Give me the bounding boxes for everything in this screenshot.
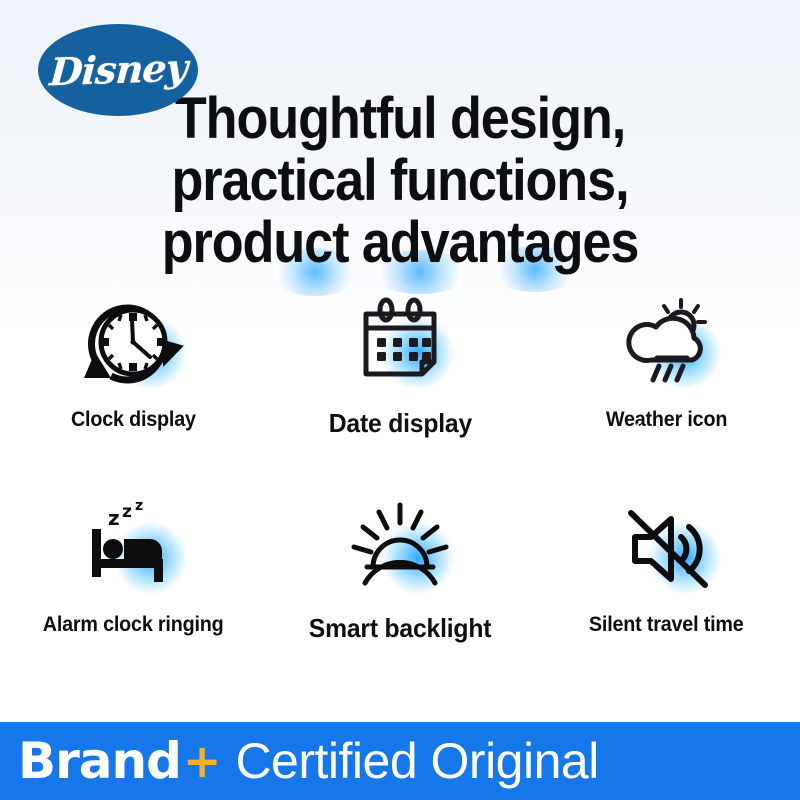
cloud-sun-rain-icon xyxy=(615,294,719,394)
banner-certified-label: Certified Original xyxy=(235,736,598,786)
headline-line-2: practical functions, xyxy=(40,150,760,212)
feature-row-1: Clock display xyxy=(0,296,800,439)
feature-label-date-display: Date display xyxy=(328,408,471,439)
feature-grid: Clock display xyxy=(0,296,800,644)
feature-label-alarm-clock-ringing: Alarm clock ringing xyxy=(43,613,224,637)
bottom-banner: Brand + Certified Original xyxy=(0,722,800,800)
calendar-icon-wrap xyxy=(341,296,459,392)
feature-alarm-clock-ringing: z z z Alarm clock ringing xyxy=(0,501,267,644)
plus-icon: + xyxy=(183,738,222,784)
feature-row-2: z z z Alarm clock ringing xyxy=(0,501,800,644)
disney-logo: Disney xyxy=(38,24,198,116)
svg-text:z: z xyxy=(135,499,143,514)
feature-weather-icon: Weather icon xyxy=(533,296,800,439)
mute-icon-wrap xyxy=(608,501,726,597)
svg-text:z: z xyxy=(108,506,120,530)
sunrise-icon-wrap xyxy=(341,501,459,597)
feature-date-display: Date display xyxy=(267,296,534,439)
feature-smart-backlight: Smart backlight xyxy=(267,501,534,644)
disney-logo-text: Disney xyxy=(48,49,188,92)
clock-icon-wrap xyxy=(74,296,192,392)
feature-label-smart-backlight: Smart backlight xyxy=(309,613,491,644)
clock-arrow-icon xyxy=(81,294,185,394)
feature-label-weather-icon: Weather icon xyxy=(606,408,727,432)
feature-clock-display: Clock display xyxy=(0,296,267,439)
banner-brand-label: Brand xyxy=(18,736,181,786)
feature-label-silent-travel-time: Silent travel time xyxy=(589,613,744,637)
speaker-muted-icon xyxy=(615,499,719,599)
banner-content: Brand + Certified Original xyxy=(0,736,599,786)
calendar-icon xyxy=(348,294,452,394)
feature-label-clock-display: Clock display xyxy=(71,408,196,432)
sunrise-icon xyxy=(345,499,455,599)
weather-icon-wrap xyxy=(608,296,726,392)
sleeping-person-zzz-icon: z z z xyxy=(78,499,188,599)
poster-root: Disney Thoughtful design, practical func… xyxy=(0,0,800,800)
sleeping-icon-wrap: z z z xyxy=(74,501,192,597)
svg-text:z: z xyxy=(122,502,132,522)
feature-silent-travel-time: Silent travel time xyxy=(533,501,800,644)
headline-line-3: product advantages xyxy=(40,212,760,274)
